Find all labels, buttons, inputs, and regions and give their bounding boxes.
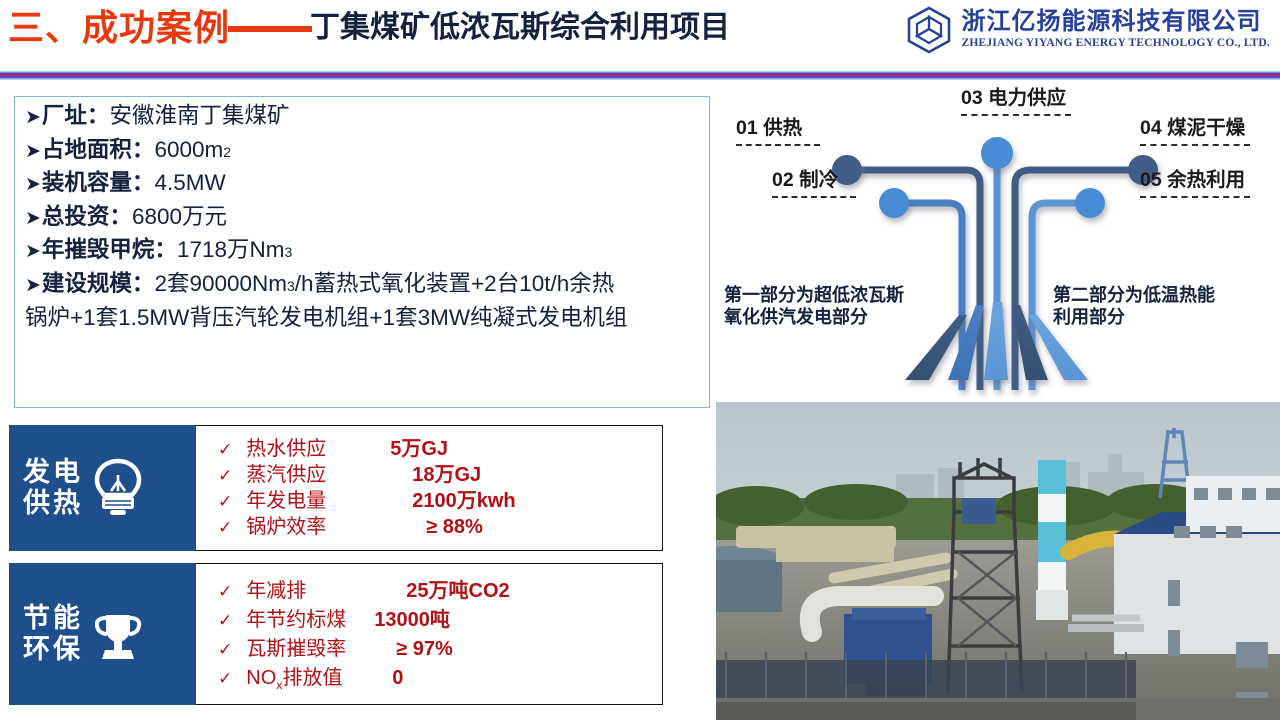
metric-value: ≥ 88% xyxy=(374,517,483,537)
diagram-label-number: 05 xyxy=(1140,169,1162,191)
list-item: ✓ 瓦斯摧毁率 ≥ 97% xyxy=(218,639,652,659)
diagram-label-underline xyxy=(1140,144,1250,146)
badge-title-line1: 发电 xyxy=(23,457,83,487)
diagram-label-03: 03 电力供应 xyxy=(961,88,1066,109)
diagram-label-underline xyxy=(1140,196,1250,198)
info-value-wrapped-line: 锅炉+1套1.5MW背压汽轮发电机组+1套3MW纯凝式发电机组 xyxy=(25,306,699,330)
metrics-block-power-heat: 发电 供热 ✓ 热水供应 5万GJ ✓ 蒸汽供应 xyxy=(9,425,663,551)
info-value: 1718万Nm xyxy=(177,239,285,262)
info-row-scale: ➤ 建设规模： 2套90000Nm3/h蓄热式氧化装置+2台10t/h余热 xyxy=(25,273,699,296)
metric-value: 5万GJ xyxy=(374,439,448,459)
arrow-bullet-icon: ➤ xyxy=(25,142,41,161)
diagram-label-text: 供热 xyxy=(763,117,802,139)
diagram-note-left: 第一部分为超低浓瓦斯 氧化供汽发电部分 xyxy=(724,285,904,329)
lightbulb-icon xyxy=(89,457,147,519)
info-value: 安徽淮南丁集煤矿 xyxy=(109,105,289,128)
diagram-label-01: 01 供热 xyxy=(736,118,802,139)
info-value-part-a: 2套90000Nm xyxy=(154,273,287,296)
metric-value: 18万GJ xyxy=(374,465,481,485)
badge-title-line1: 节能 xyxy=(23,603,83,633)
metrics-block-energy-saving: 节能 环保 ✓ 年减排 25万吨CO2 ✓ 年节约标煤 xyxy=(9,563,663,705)
metrics-list: ✓ 热水供应 5万GJ ✓ 蒸汽供应 18万GJ ✓ 年发电量 2100万kwh… xyxy=(196,425,663,551)
metric-value: 2100万kwh xyxy=(374,491,515,511)
arrow-bullet-icon: ➤ xyxy=(25,175,41,194)
diagram-label-number: 03 xyxy=(961,87,983,109)
metric-name: 年减排 xyxy=(246,581,374,601)
list-item: ✓ 年减排 25万吨CO2 xyxy=(218,581,652,601)
info-row: ➤ 装机容量： 4.5MW xyxy=(25,172,699,195)
badge-title: 发电 供热 xyxy=(23,457,83,520)
diagram-label-04: 04 煤泥干燥 xyxy=(1140,118,1245,139)
info-value: 4.5MW xyxy=(154,172,225,195)
badge-title: 节能 环保 xyxy=(23,603,83,666)
company-name-en: ZHEJIANG YIYANG ENERGY TECHNOLOGY CO., L… xyxy=(961,38,1270,50)
info-value-part-b: /h蓄热式氧化装置+2台10t/h余热 xyxy=(295,273,614,296)
diagram-label-underline xyxy=(961,114,1071,116)
metric-name: 年发电量 xyxy=(246,491,374,511)
diagram-note-right: 第二部分为低温热能 利用部分 xyxy=(1053,285,1215,329)
energy-flow-diagram: 01 供热 02 制冷 03 电力供应 04 煤泥干燥 05 余热利用 第一部分… xyxy=(716,80,1280,400)
list-item: ✓ NOx排放值 0 xyxy=(218,668,652,688)
project-info-box: ➤ 厂址： 安徽淮南丁集煤矿 ➤ 占地面积： 6000m2 ➤ 装机容量： 4.… xyxy=(14,96,710,408)
metric-name: 蒸汽供应 xyxy=(246,465,374,485)
diagram-label-text: 电力供应 xyxy=(988,87,1066,109)
list-item: ✓ 年发电量 2100万kwh xyxy=(218,491,652,511)
check-icon: ✓ xyxy=(218,467,232,484)
header-gradient-divider xyxy=(0,71,1280,80)
check-icon: ✓ xyxy=(218,641,232,658)
list-item: ✓ 年节约标煤 13000吨 xyxy=(218,610,652,630)
diagram-label-text: 制冷 xyxy=(799,169,838,191)
company-logo: 浙江亿扬能源科技有限公司 ZHEJIANG YIYANG ENERGY TECH… xyxy=(907,6,1270,54)
page-title: 三、成功案例 丁集煤矿低浓瓦斯综合利用项目 xyxy=(8,10,730,46)
check-icon: ✓ xyxy=(218,441,232,458)
metrics-list: ✓ 年减排 25万吨CO2 ✓ 年节约标煤 13000吨 ✓ 瓦斯摧毁率 ≥ 9… xyxy=(196,563,663,705)
diagram-label-underline xyxy=(772,196,856,198)
info-row: ➤ 厂址： 安徽淮南丁集煤矿 xyxy=(25,105,699,128)
metrics-badge-header: 发电 供热 xyxy=(9,425,196,551)
plant-photo-illustration xyxy=(716,402,1280,720)
diagram-label-number: 01 xyxy=(736,117,758,139)
arrow-bullet-icon: ➤ xyxy=(25,242,41,261)
diagram-label-05: 05 余热利用 xyxy=(1140,170,1245,191)
company-name-block: 浙江亿扬能源科技有限公司 ZHEJIANG YIYANG ENERGY TECH… xyxy=(961,10,1270,50)
metrics-badge-header: 节能 环保 xyxy=(9,563,196,705)
hexagon-cube-logo-icon xyxy=(907,6,951,54)
node-02 xyxy=(879,188,909,218)
list-item: ✓ 锅炉效率 ≥ 88% xyxy=(218,517,652,537)
check-icon: ✓ xyxy=(218,612,232,629)
info-value: 6000m xyxy=(154,139,223,162)
metric-value: 13000吨 xyxy=(374,610,450,630)
info-label: 建设规模： xyxy=(42,273,155,296)
diagram-label-02: 02 制冷 xyxy=(772,170,838,191)
metric-name: 热水供应 xyxy=(246,439,374,459)
metric-value: ≥ 97% xyxy=(374,639,453,659)
metric-name-prefix: NO xyxy=(246,667,276,689)
info-row: ➤ 占地面积： 6000m2 xyxy=(25,139,699,162)
metric-name-suffix: 排放值 xyxy=(282,667,342,689)
title-sub-text: 丁集煤矿低浓瓦斯综合利用项目 xyxy=(310,13,730,43)
arrow-bullet-icon: ➤ xyxy=(25,276,41,295)
slide-header: 三、成功案例 丁集煤矿低浓瓦斯综合利用项目 浙江亿扬能源科技有限公司 ZHEJI… xyxy=(0,0,1280,72)
badge-title-line2: 供热 xyxy=(23,488,83,518)
check-icon: ✓ xyxy=(218,670,232,687)
title-main-text: 三、成功案例 xyxy=(8,10,230,46)
list-item: ✓ 热水供应 5万GJ xyxy=(218,439,652,459)
info-row: ➤ 年摧毁甲烷： 1718万Nm3 xyxy=(25,239,699,262)
title-dash-rule xyxy=(228,26,312,32)
slide-root: 三、成功案例 丁集煤矿低浓瓦斯综合利用项目 浙江亿扬能源科技有限公司 ZHEJI… xyxy=(0,0,1280,720)
metric-name: NOx排放值 xyxy=(246,668,374,688)
trophy-icon xyxy=(89,603,147,665)
info-label: 厂址： xyxy=(42,105,110,128)
info-label: 总投资： xyxy=(42,206,132,229)
arrow-bullet-icon: ➤ xyxy=(25,108,41,127)
metric-value: 25万吨CO2 xyxy=(374,581,509,601)
plant-photo xyxy=(716,402,1280,720)
company-name-cn: 浙江亿扬能源科技有限公司 xyxy=(961,10,1270,34)
info-label: 年摧毁甲烷： xyxy=(42,239,177,262)
check-icon: ✓ xyxy=(218,583,232,600)
info-row: ➤ 总投资： 6800万元 xyxy=(25,206,699,229)
info-label: 占地面积： xyxy=(42,139,155,162)
arrow-bullet-icon: ➤ xyxy=(25,209,41,228)
diagram-label-text: 煤泥干燥 xyxy=(1167,117,1245,139)
badge-title-line2: 环保 xyxy=(23,634,83,664)
node-03 xyxy=(981,137,1013,169)
check-icon: ✓ xyxy=(218,519,232,536)
list-item: ✓ 蒸汽供应 18万GJ xyxy=(218,465,652,485)
info-label: 装机容量： xyxy=(42,172,155,195)
diagram-label-text: 余热利用 xyxy=(1167,169,1245,191)
diagram-label-number: 04 xyxy=(1140,117,1162,139)
diagram-label-underline xyxy=(736,144,820,146)
metric-name: 锅炉效率 xyxy=(246,517,374,537)
metric-name: 瓦斯摧毁率 xyxy=(246,639,374,659)
check-icon: ✓ xyxy=(218,493,232,510)
diagram-label-number: 02 xyxy=(772,169,794,191)
info-value: 6800万元 xyxy=(132,206,227,229)
metric-name: 年节约标煤 xyxy=(246,610,374,630)
metric-value: 0 xyxy=(374,668,403,688)
node-05 xyxy=(1075,188,1105,218)
